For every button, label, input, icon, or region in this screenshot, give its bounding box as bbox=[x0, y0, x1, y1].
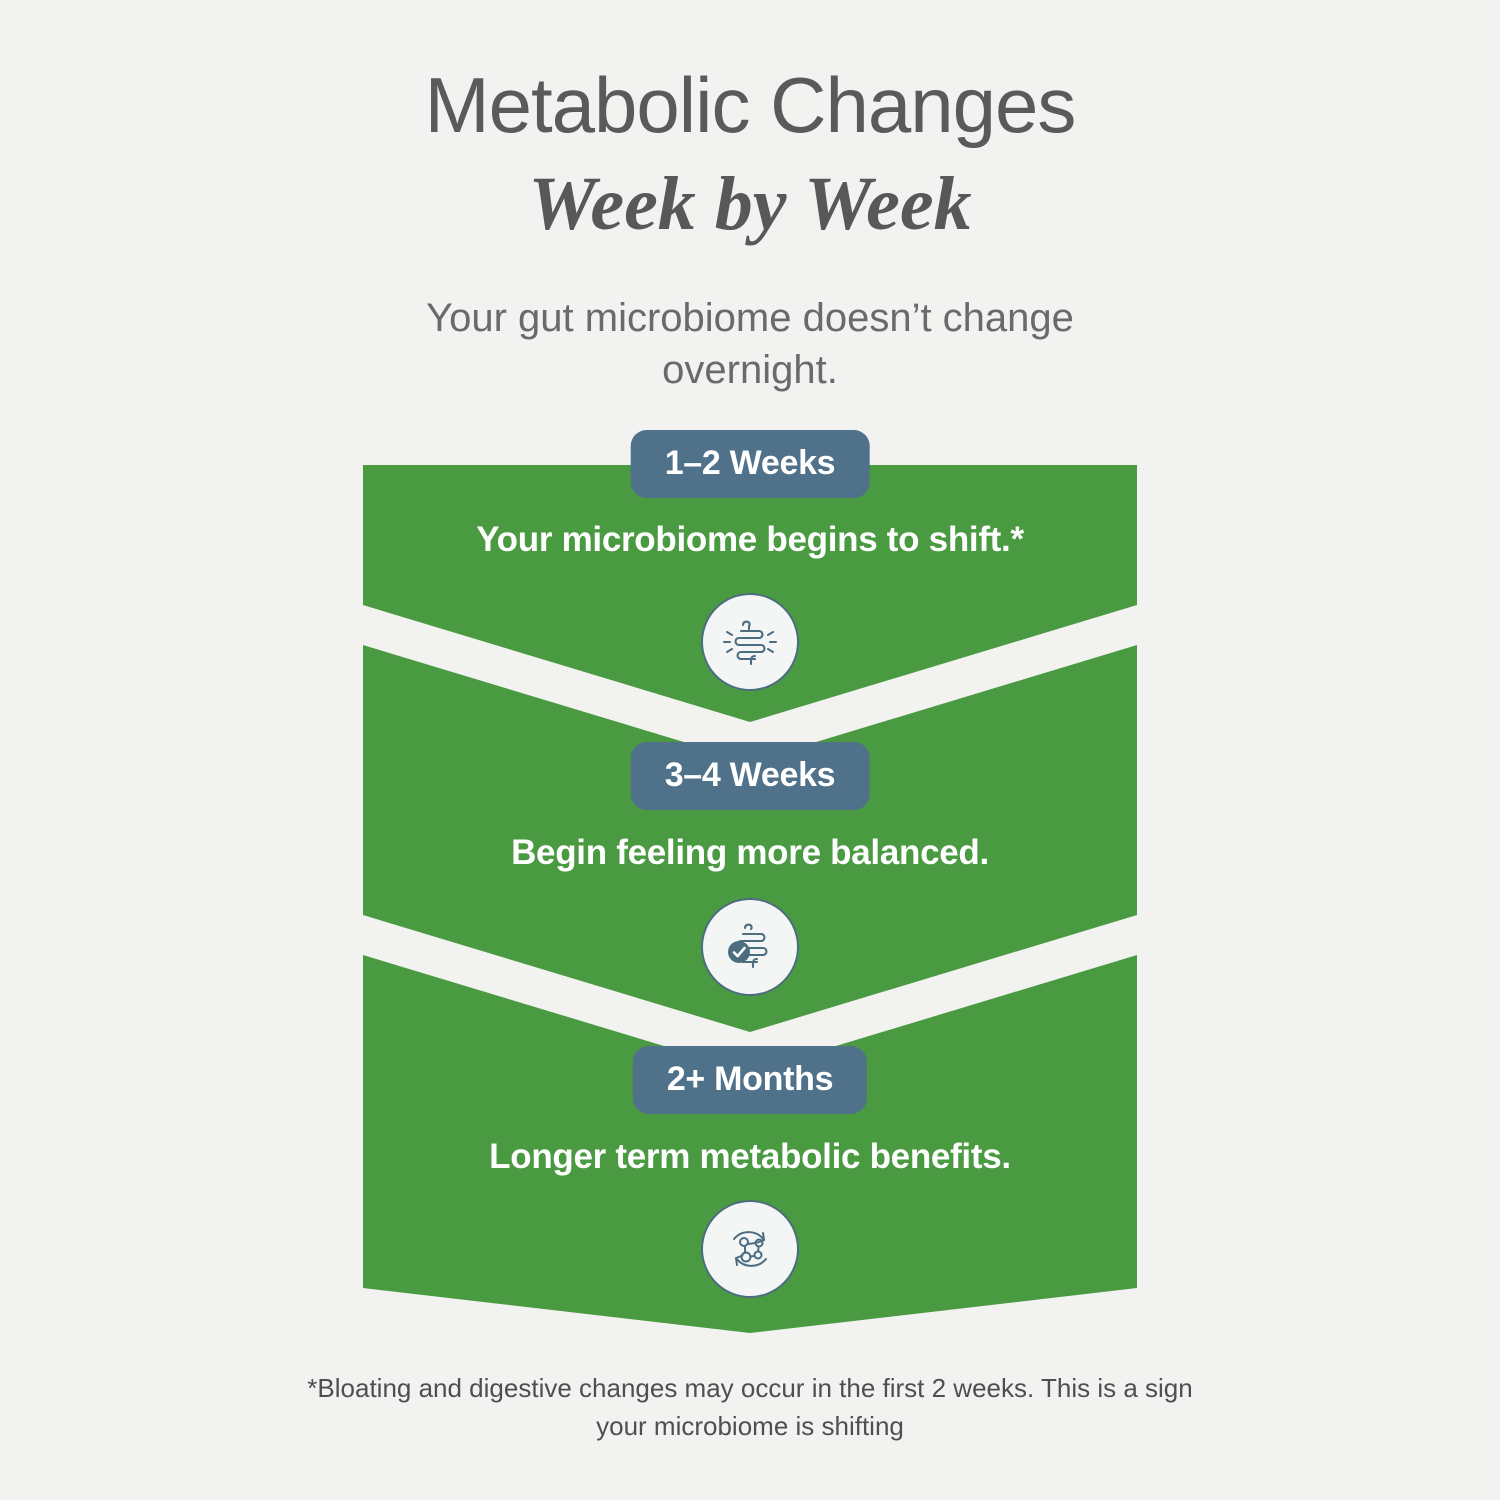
stage-label-3: Longer term metabolic benefits. bbox=[0, 1137, 1500, 1177]
stage-badge-3[interactable]: 2+ Months bbox=[633, 1046, 867, 1114]
intestine-active-icon bbox=[719, 611, 781, 673]
page-subtitle-script: Week by Week bbox=[0, 144, 1500, 242]
stage-label-1: Your microbiome begins to shift.* bbox=[0, 520, 1500, 560]
header: Metabolic Changes Week by Week Your gut … bbox=[0, 0, 1500, 396]
metabolism-cycle-icon bbox=[718, 1217, 782, 1281]
stage-icon-3 bbox=[701, 1200, 799, 1298]
stage-badge-1[interactable]: 1–2 Weeks bbox=[631, 430, 870, 498]
stage-icon-1 bbox=[701, 593, 799, 691]
page-title: Metabolic Changes bbox=[0, 0, 1500, 144]
stage-icon-2 bbox=[701, 898, 799, 996]
intro-text: Your gut microbiome doesn’t change overn… bbox=[370, 242, 1130, 396]
infographic-canvas: Metabolic Changes Week by Week Your gut … bbox=[0, 0, 1500, 1500]
stage-label-2: Begin feeling more balanced. bbox=[0, 833, 1500, 873]
footnote: *Bloating and digestive changes may occu… bbox=[290, 1370, 1210, 1445]
intestine-check-icon bbox=[719, 916, 781, 978]
stage-badge-2[interactable]: 3–4 Weeks bbox=[631, 742, 870, 810]
